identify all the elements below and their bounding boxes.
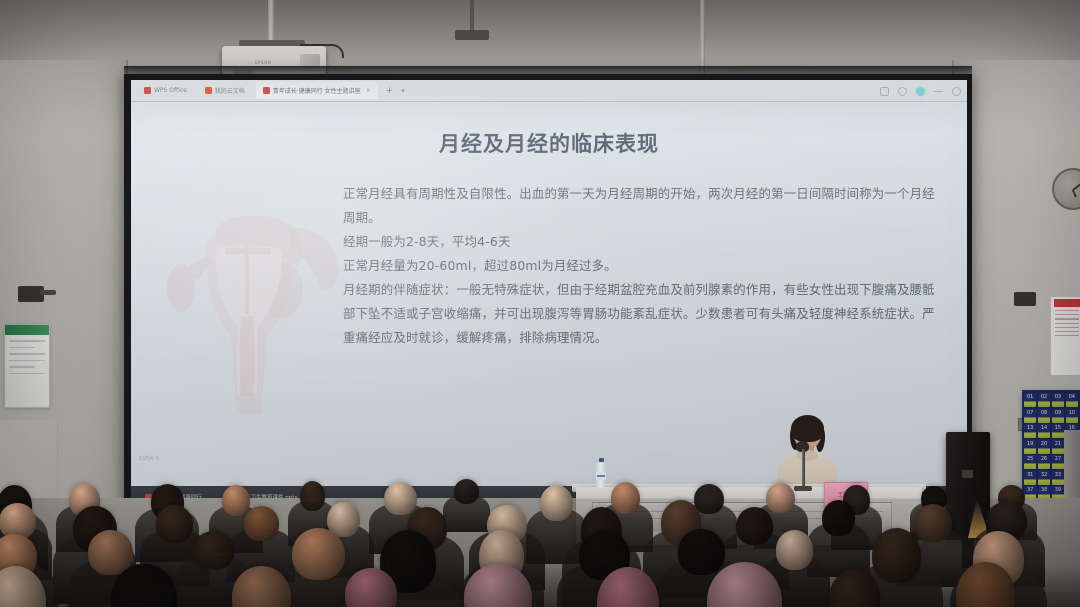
pocket-cell: 27: [1052, 455, 1064, 469]
pocket-cell: 10: [1066, 409, 1078, 423]
notice-line: [1055, 323, 1079, 324]
pocket-cell: 19: [1024, 440, 1036, 454]
tab-wps-office[interactable]: WPS Office: [137, 82, 194, 99]
pocket-cell: 21: [1052, 440, 1064, 454]
audience-member-head: [611, 482, 640, 515]
chevron-down-icon[interactable]: ▾: [401, 87, 405, 95]
presenter-mode-icon[interactable]: [916, 87, 925, 96]
audience-member-head: [736, 507, 773, 545]
ceiling-rod-left: [470, 0, 474, 34]
notice-line: [1055, 335, 1079, 336]
close-icon[interactable]: ×: [366, 87, 371, 94]
notice-header: [1054, 299, 1080, 307]
slide-status-text: 幻灯片 3: [139, 455, 159, 462]
audience-member-head: [872, 528, 921, 583]
wall-mount-arm-left: [40, 290, 56, 295]
settings-icon[interactable]: [898, 87, 907, 96]
wall-notice-green: [4, 324, 50, 408]
presenter-hair: [791, 415, 824, 442]
audience-member-head: [193, 531, 233, 570]
upper-wall: [0, 0, 1080, 66]
pocket-cell: 01: [1024, 393, 1036, 407]
tab-active-presentation[interactable]: 青年成长·健康同行 女性主题讲座 ×: [256, 82, 378, 99]
slide-body-text: 正常月经具有周期性及自限性。出血的第一天为月经周期的开始，两次月经的第一日间隔时…: [343, 182, 943, 350]
audience-area: [0, 470, 1080, 607]
wall-notice-red: [1050, 296, 1080, 376]
new-tab-button[interactable]: +: [382, 86, 398, 96]
notice-line: [9, 347, 35, 349]
audience-member-head: [222, 485, 250, 516]
pocket-cell: 03: [1052, 393, 1064, 407]
audience-member-head: [540, 485, 573, 522]
minimize-icon[interactable]: [934, 91, 943, 92]
projector-brand-label: EPSON: [255, 60, 271, 65]
audience-member-head: [914, 504, 952, 543]
projector-mount-rod: [268, 0, 274, 42]
audience-member-head: [300, 481, 325, 511]
pocket-cell: 15: [1052, 424, 1064, 438]
slide-title: 月经及月经的临床表现: [131, 128, 967, 158]
pocket-cell: 26: [1038, 455, 1050, 469]
notice-line: [9, 360, 45, 362]
notice-line: [9, 366, 35, 368]
notice-line: [9, 340, 45, 342]
pocket-cell: 25: [1024, 455, 1036, 469]
pocket-cell: 07: [1024, 409, 1036, 423]
audience-member-head: [694, 484, 724, 514]
notice-line: [1055, 314, 1079, 315]
browser-tab-bar[interactable]: WPS Office 我的云文档 青年成长·健康同行 女性主题讲座 × + ▾: [131, 80, 967, 102]
audience-member-head: [384, 482, 417, 515]
audience-member-head: [776, 530, 814, 570]
tab-label: WPS Office: [154, 87, 187, 94]
ceiling-fixture-left: [455, 30, 489, 40]
notice-line: [1055, 331, 1079, 332]
audience-member-head: [244, 506, 280, 541]
audience-member-head: [766, 483, 795, 514]
pocket-cell: 04: [1066, 393, 1078, 407]
notice-line: [1055, 327, 1079, 328]
notice-line: [1055, 310, 1079, 311]
audience-member-head: [292, 528, 345, 581]
tab-label: 青年成长·健康同行 女性主题讲座: [273, 86, 361, 95]
ppt-icon: [205, 87, 212, 94]
window-controls[interactable]: [880, 80, 961, 102]
slide-paragraph-3: 正常月经量为20-60ml，超过80ml为月经过多。: [343, 254, 943, 278]
pocket-cell: 08: [1038, 409, 1050, 423]
slide-paragraph-2: 经期一般为2-8天，平均4-6天: [343, 230, 943, 254]
pocket-cell: 09: [1052, 409, 1064, 423]
tab-cloud-docs[interactable]: 我的云文档: [198, 82, 252, 99]
audience-member-head: [156, 505, 193, 543]
lecture-hall-scene: EPSON WPS Office 我的云文档 青年成长·健康同行 女性主题讲座 …: [0, 0, 1080, 607]
wps-icon: [144, 87, 151, 94]
uterus-anatomy-illustration: [157, 184, 353, 416]
doc-icon: [263, 87, 270, 94]
slide-paragraph-4: 月经期的伴随症状：一般无特殊症状，但由于经期盆腔充血及前列腺素的作用，有些女性出…: [343, 278, 943, 350]
pocket-cell: 14: [1038, 424, 1050, 438]
notice-line: [1055, 318, 1079, 319]
slide-paragraph-1: 正常月经具有周期性及自限性。出血的第一天为月经周期的开始，两次月经的第一日间隔时…: [343, 182, 943, 230]
notice-line: [9, 353, 45, 355]
notice-header: [5, 325, 49, 335]
pocket-cell: 13: [1024, 424, 1036, 438]
audience-member-head: [678, 529, 724, 575]
tab-label: 我的云文档: [215, 86, 245, 95]
pocket-cell: 20: [1038, 440, 1050, 454]
restore-icon[interactable]: [880, 87, 889, 96]
audience-member-head: [454, 479, 479, 504]
wall-mount-right: [1014, 292, 1036, 306]
notice-line: [9, 373, 45, 375]
audience-member-head: [822, 500, 855, 536]
close-icon[interactable]: [952, 87, 961, 96]
pocket-cell: 02: [1038, 393, 1050, 407]
